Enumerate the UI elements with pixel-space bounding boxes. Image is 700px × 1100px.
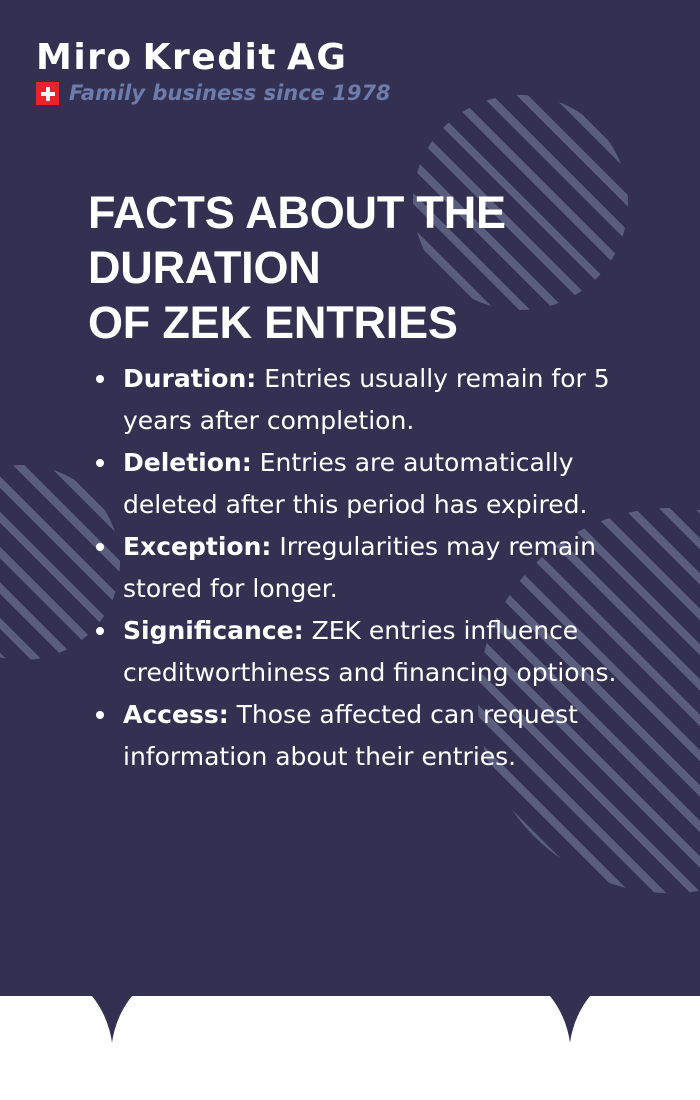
list-item: Duration: Entries usually remain for 5 y… [90, 358, 620, 442]
brand-name-part3: AG [287, 37, 347, 78]
list-item: Exception: Irregularities may remain sto… [90, 526, 620, 610]
infographic-poster: MiroKreditAG Family business since 1978 … [0, 0, 700, 1100]
page-title-line-1: FACTS ABOUT THE [88, 185, 628, 240]
fact-term: Exception: [123, 532, 271, 561]
fact-term: Duration: [123, 364, 256, 393]
brand-name-part1: Miro [36, 37, 133, 78]
bullet-dot-icon [96, 627, 104, 635]
brand-tagline: Family business since 1978 [69, 82, 391, 105]
page-title-line-2: DURATION [88, 240, 628, 295]
bullet-dot-icon [96, 375, 104, 383]
bottom-arch-decoration [0, 960, 700, 1100]
list-item: Access: Those affected can request infor… [90, 694, 620, 778]
page-title-line-3: OF ZEK ENTRIES [88, 295, 628, 350]
bullet-dot-icon [96, 459, 104, 467]
brand-logo[interactable]: MiroKreditAG Family business since 1978 [36, 38, 391, 105]
bullet-dot-icon [96, 543, 104, 551]
brand-name-part2: Kredit [143, 37, 277, 78]
list-item: Deletion: Entries are automatically dele… [90, 442, 620, 526]
bullet-dot-icon [96, 711, 104, 719]
brand-wordmark: MiroKreditAG [36, 38, 391, 78]
fact-term: Significance: [123, 616, 304, 645]
page-title: FACTS ABOUT THE DURATION OF ZEK ENTRIES [88, 185, 628, 350]
list-item: Significance: ZEK entries influence cred… [90, 610, 620, 694]
fact-term: Deletion: [123, 448, 252, 477]
swiss-flag-icon [36, 82, 59, 105]
fact-term: Access: [123, 700, 229, 729]
brand-tagline-row: Family business since 1978 [36, 82, 391, 105]
facts-list: Duration: Entries usually remain for 5 y… [90, 358, 620, 778]
